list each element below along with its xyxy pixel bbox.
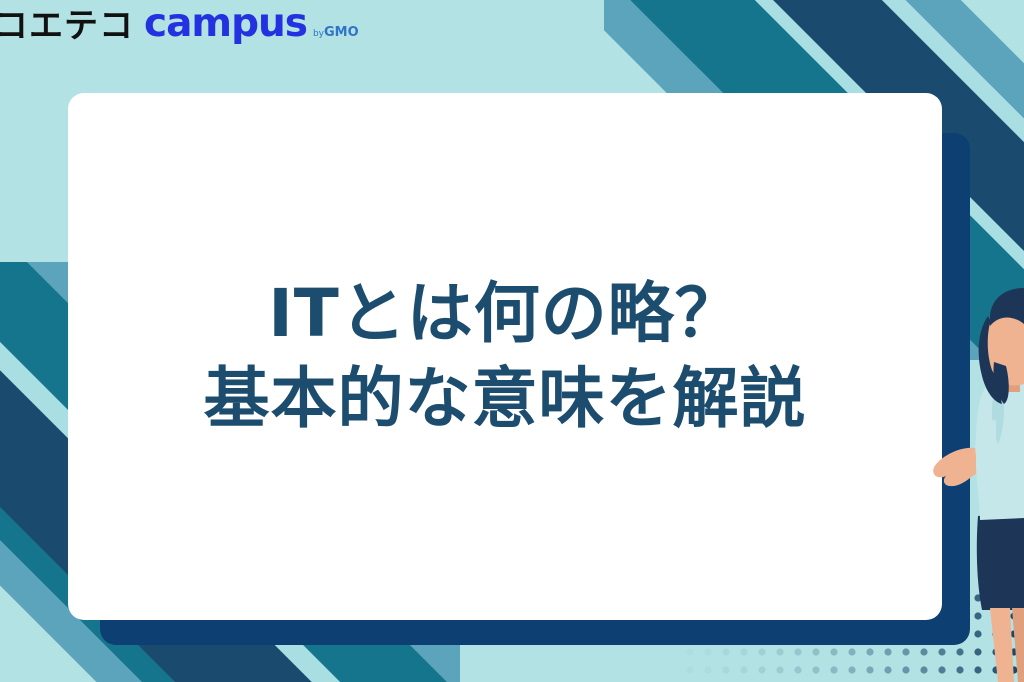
- grid-dot: [740, 648, 747, 655]
- grid-dot: [794, 648, 801, 655]
- grid-dot: [686, 666, 693, 673]
- logo-japanese-text: コエテコ: [0, 9, 134, 43]
- grid-dot: [866, 648, 873, 655]
- grid-dot: [866, 666, 873, 673]
- card-content: ITとは何の略？ 基本的な意味を解説: [68, 93, 942, 620]
- grid-dot: [740, 666, 747, 673]
- grid-dot: [812, 666, 819, 673]
- grid-dot: [776, 666, 783, 673]
- grid-dot: [722, 666, 729, 673]
- grid-dot: [830, 648, 837, 655]
- grid-dot: [758, 666, 765, 673]
- grid-dot: [902, 648, 909, 655]
- grid-dot: [848, 666, 855, 673]
- brand-logo[interactable]: コエテコ campus byGMO: [0, 4, 359, 43]
- skirt-shape: [977, 512, 1024, 610]
- logo-by-text: by: [313, 29, 324, 39]
- grid-dot: [758, 648, 765, 655]
- grid-dot: [884, 666, 891, 673]
- grid-dot: [686, 648, 693, 655]
- grid-dot: [704, 648, 711, 655]
- logo-gmo-word: GMO: [324, 25, 359, 40]
- logo-campus-text: campus: [144, 4, 307, 43]
- grid-dot: [884, 648, 891, 655]
- grid-dot: [920, 648, 927, 655]
- grid-dot: [830, 666, 837, 673]
- leg-shape: [990, 608, 1014, 682]
- slide-canvas: コエテコ campus byGMO ITとは何の略？ 基本的な意味を解説: [0, 0, 1024, 682]
- logo-gmo-text: byGMO: [313, 26, 359, 39]
- grid-dot: [920, 666, 927, 673]
- leg-shape-2: [1012, 608, 1024, 682]
- woman-illustration: [932, 280, 1024, 682]
- grid-dot: [776, 648, 783, 655]
- grid-dot: [812, 648, 819, 655]
- grid-dot: [848, 648, 855, 655]
- grid-dot: [902, 666, 909, 673]
- grid-dot: [704, 666, 711, 673]
- grid-dot: [794, 666, 801, 673]
- page-title: ITとは何の略？ 基本的な意味を解説: [174, 272, 837, 441]
- title-card: ITとは何の略？ 基本的な意味を解説: [68, 93, 942, 620]
- grid-dot: [722, 648, 729, 655]
